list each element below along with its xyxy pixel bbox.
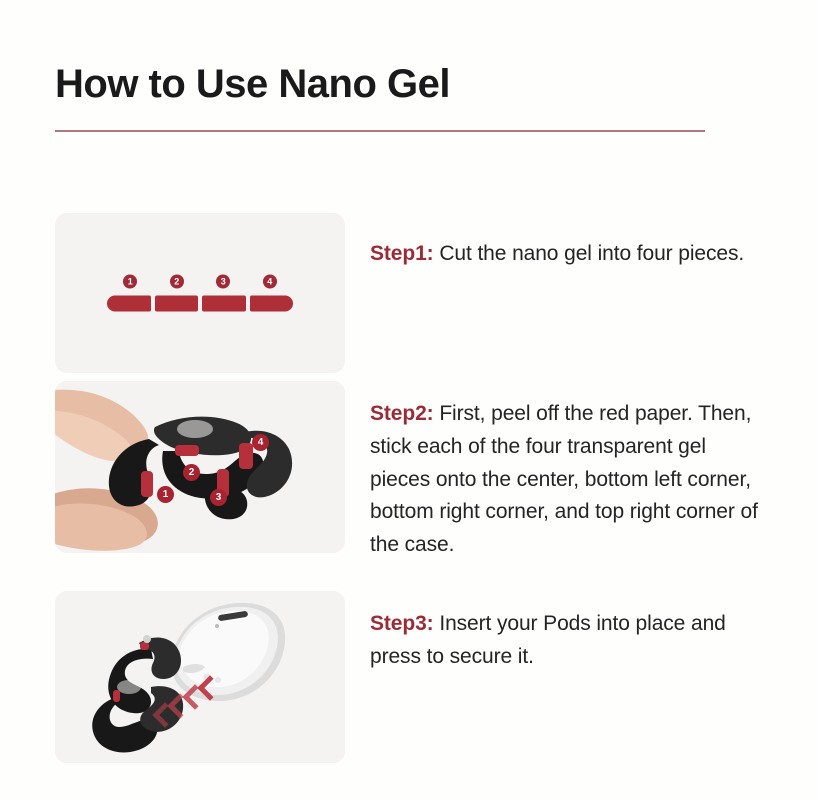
hand-holding-rope-case-photo <box>55 381 345 553</box>
step-2-pin-1: 1 <box>157 486 174 503</box>
step-1-body: Cut the nano gel into four pieces. <box>434 242 745 265</box>
gel-piece-2 <box>155 296 199 312</box>
gel-piece-4 <box>250 296 294 312</box>
gel-badge-row: 1 2 3 4 <box>107 275 293 289</box>
steps-list: 1 2 3 4 <box>0 213 819 763</box>
gel-badge-slot: 1 <box>107 275 154 289</box>
gel-badge-4: 4 <box>263 275 277 289</box>
gel-badge-slot: 2 <box>154 275 201 289</box>
step-3-label: Step3: <box>370 612 434 635</box>
step-row-2: 1 2 3 4 Step2: First, peel off the red p… <box>0 373 819 583</box>
step-2-pin-2: 2 <box>183 464 200 481</box>
step-2-image-card: 1 2 3 4 <box>55 381 345 553</box>
gel-bar-row <box>107 296 293 312</box>
step-2-pin-4: 4 <box>252 434 269 451</box>
step-3-text-column: Step3: Insert your Pods into place and p… <box>370 583 770 695</box>
gel-badge-1: 1 <box>123 275 137 289</box>
step-1-image-card: 1 2 3 4 <box>55 213 345 373</box>
step-1-text-column: Step1: Cut the nano gel into four pieces… <box>370 213 770 292</box>
step-3-text: Step3: Insert your Pods into place and p… <box>370 608 770 674</box>
gel-badge-slot: 3 <box>200 275 247 289</box>
step-2-body: First, peel off the red paper. Then, sti… <box>370 402 758 556</box>
step-2-text-column: Step2: First, peel off the red paper. Th… <box>370 373 770 583</box>
step-2-text: Step2: First, peel off the red paper. Th… <box>370 398 770 562</box>
gel-badge-3: 3 <box>216 275 230 289</box>
gel-badge-slot: 4 <box>247 275 294 289</box>
page-title: How to Use Nano Gel <box>55 62 755 106</box>
title-divider <box>55 130 705 132</box>
step-2-label: Step2: <box>370 402 434 425</box>
step-1-label: Step1: <box>370 242 434 265</box>
pods-case-insert-photo <box>55 591 345 763</box>
gel-badge-2: 2 <box>170 275 184 289</box>
step-2-pin-3: 3 <box>210 489 227 506</box>
step-row-3: Step3: Insert your Pods into place and p… <box>0 583 819 763</box>
nano-gel-strip-illustration: 1 2 3 4 <box>107 275 293 312</box>
gel-piece-3 <box>202 296 246 312</box>
gel-piece-1 <box>107 296 151 312</box>
nano-gel-instructions-page: How to Use Nano Gel 1 2 3 <box>0 0 819 800</box>
step-row-1: 1 2 3 4 <box>0 213 819 373</box>
step-3-image-card <box>55 591 345 763</box>
step-1-text: Step1: Cut the nano gel into four pieces… <box>370 238 770 271</box>
page-header: How to Use Nano Gel <box>55 62 755 132</box>
